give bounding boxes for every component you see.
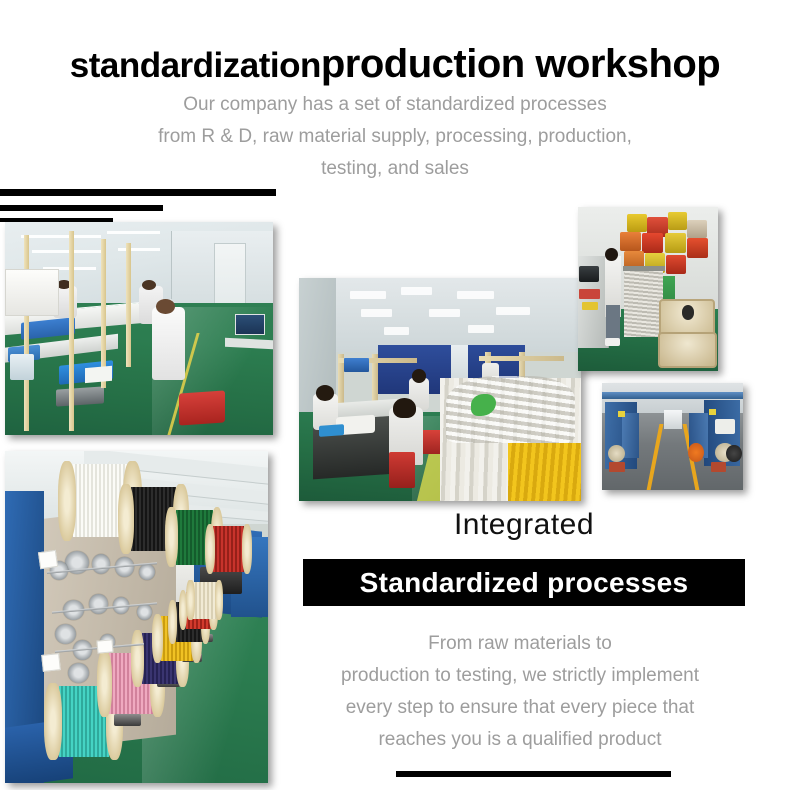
footer-body-line-2: production to testing, we strictly imple…	[280, 666, 760, 685]
photo-extrusion-line-aisle	[602, 383, 743, 490]
photo-bunching-machine	[5, 451, 268, 783]
page-title-part1: standardization	[70, 46, 321, 85]
subtitle-line-3: testing, and sales	[0, 159, 790, 178]
photo-cable-assembly-workshop	[299, 278, 581, 501]
photo-assembly-cleanroom	[5, 222, 273, 435]
decor-bar-top-2	[0, 205, 163, 211]
footer-banner: Standardized processes	[303, 559, 745, 606]
poster-canvas: standardizationproduction workshop Our c…	[0, 0, 790, 790]
page-title: standardizationproduction workshop	[0, 44, 790, 84]
footer-body-line-3: every step to ensure that every piece th…	[280, 698, 760, 717]
spool-cream	[186, 580, 223, 620]
footer-body-line-4: reaches you is a qualified product	[280, 730, 760, 749]
subtitle-line-1: Our company has a set of standardized pr…	[0, 95, 790, 114]
subtitle-line-2: from R & D, raw material supply, process…	[0, 127, 790, 146]
decor-bar-bottom	[396, 771, 671, 777]
decor-bar-top-1	[0, 189, 276, 196]
footer-heading: Integrated	[303, 508, 745, 542]
spool-red-top	[205, 524, 252, 574]
page-title-part2: production workshop	[321, 42, 720, 86]
footer-banner-label: Standardized processes	[360, 567, 689, 599]
footer-body-line-1: From raw materials to	[280, 634, 760, 653]
photo-spool-storage-room	[578, 207, 718, 371]
